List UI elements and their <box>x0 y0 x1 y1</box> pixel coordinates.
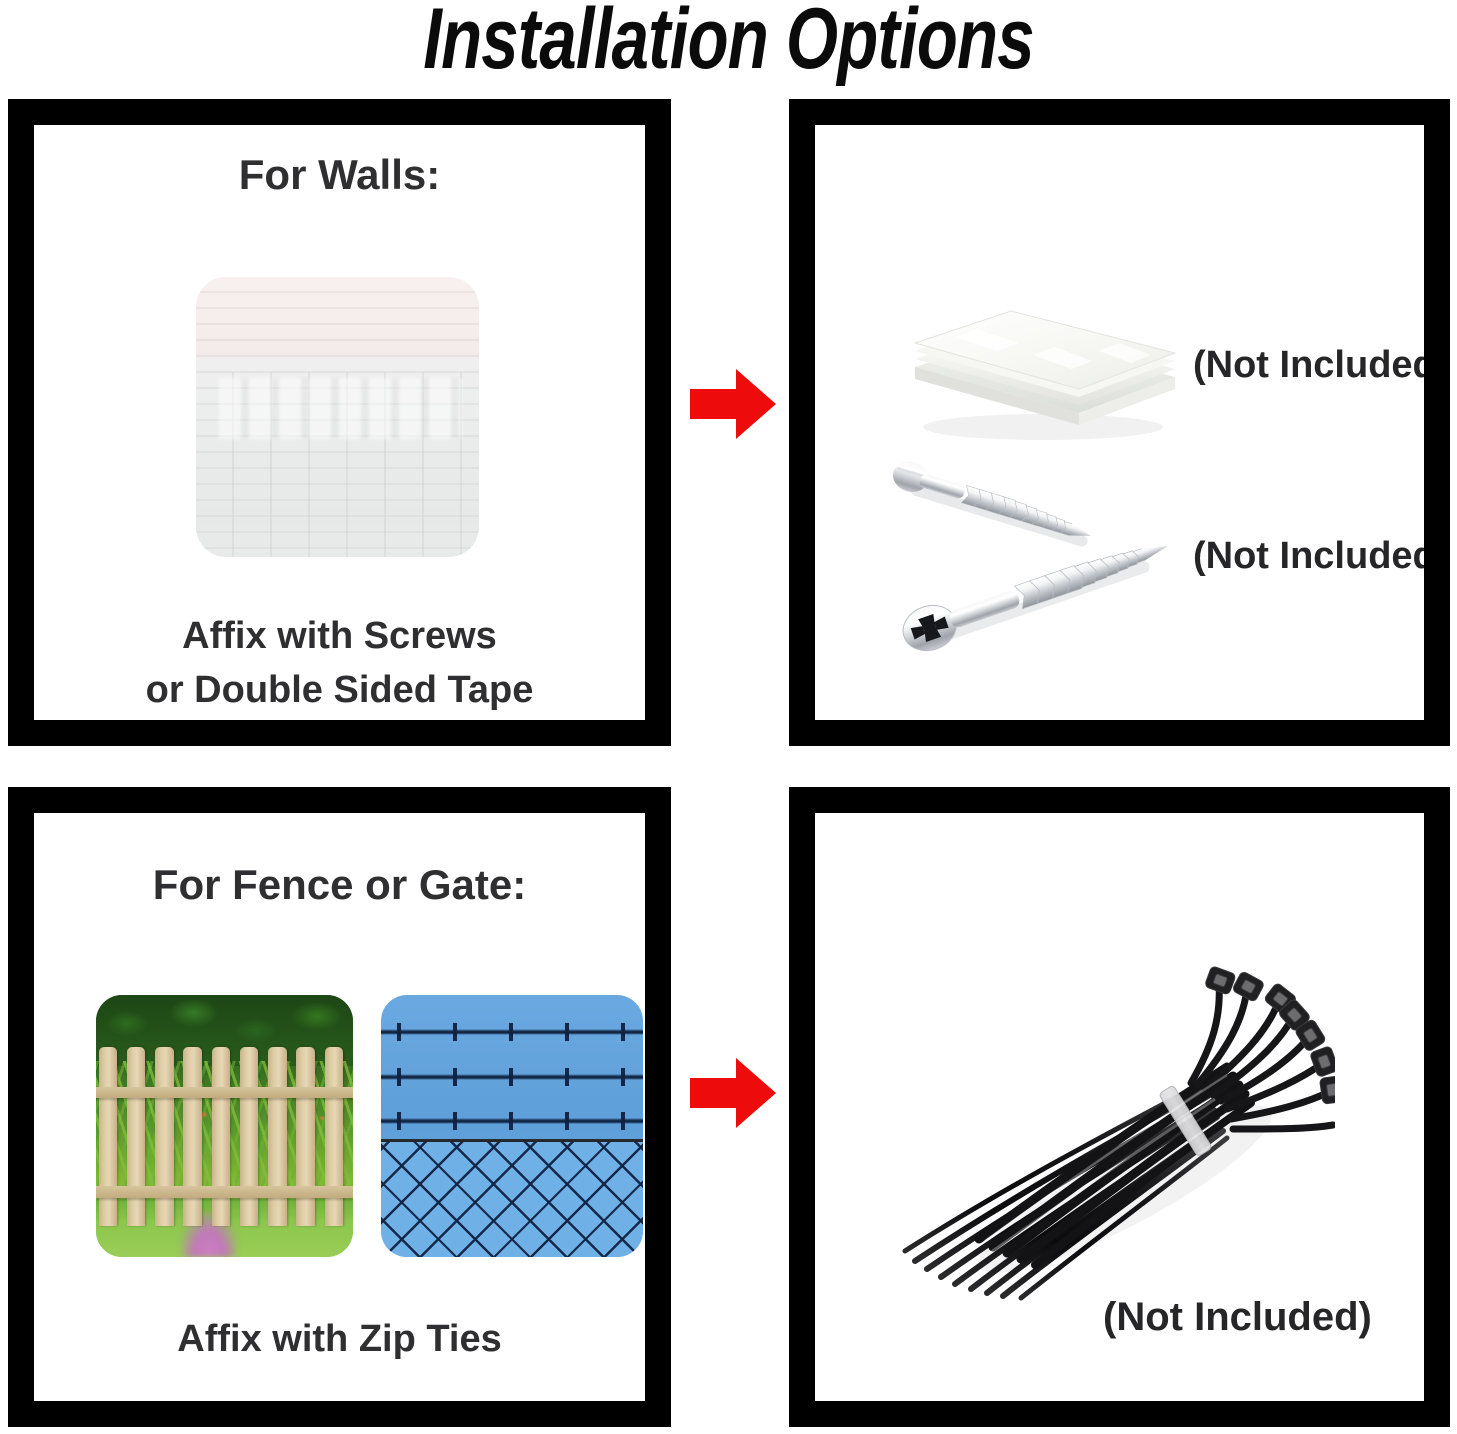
panel-zip-ties: (Not Included) <box>789 787 1450 1427</box>
heading-for-walls: For Walls: <box>34 151 645 199</box>
panel-wall-hardware: (Not Included) <box>789 99 1450 746</box>
tape-not-included-label: (Not Included) <box>1193 344 1424 387</box>
double-sided-tape-stack <box>893 255 1193 445</box>
installation-options-infographic: Installation Options For Walls: Affix wi… <box>0 0 1457 1434</box>
caption-line-2: or Double Sided Tape <box>34 664 645 718</box>
caption-for-walls: Affix with Screws or Double Sided Tape <box>34 610 645 718</box>
heading-for-fence-or-gate: For Fence or Gate: <box>34 861 645 909</box>
caption-line-1: Affix with Screws <box>34 610 645 664</box>
caption-for-fence: Affix with Zip Ties <box>34 1313 645 1367</box>
barbed-wire-chain-link-fence-photo <box>381 995 643 1257</box>
panel-for-fence-or-gate: For Fence or Gate: <box>8 787 671 1427</box>
silver-wood-screws <box>861 450 1241 665</box>
panel-for-walls: For Walls: Affix with Screws or Double S… <box>8 99 671 746</box>
wooden-picket-fence-photo <box>96 995 353 1257</box>
caption-line-1: Affix with Zip Ties <box>34 1313 645 1367</box>
black-zip-ties-bundle <box>875 939 1335 1309</box>
screw-not-included-label: (Not Included) <box>1193 535 1424 578</box>
arrow-right-icon <box>688 366 778 442</box>
white-brick-wall-photo <box>196 277 479 557</box>
brick-highlight-texture <box>219 378 462 440</box>
page-title: Installation Options <box>160 0 1296 84</box>
zip-ties-not-included-label: (Not Included) <box>1103 1295 1372 1340</box>
arrow-right-icon <box>688 1055 778 1131</box>
